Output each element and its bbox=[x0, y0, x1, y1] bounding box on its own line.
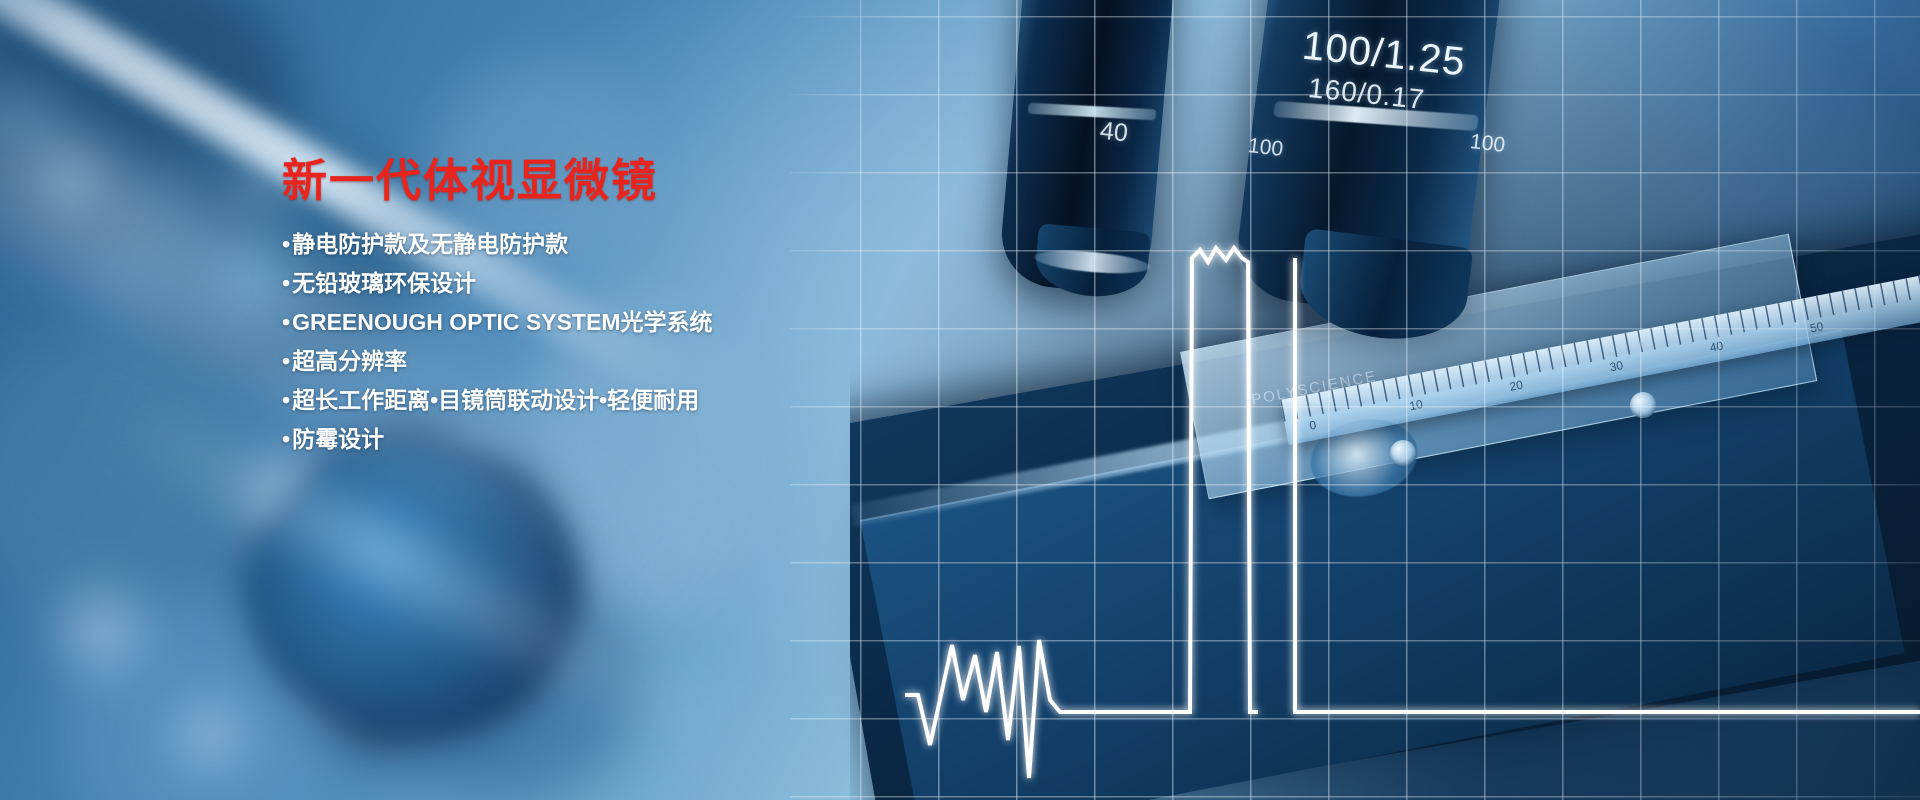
feature-list: •静电防护款及无静电防护款•无铅玻璃环保设计•GREENOUGH OPTIC S… bbox=[282, 233, 902, 451]
bullet-dot-icon: • bbox=[282, 348, 290, 374]
list-item-label: 静电防护款及无静电防护款 bbox=[292, 231, 568, 257]
list-item-label: 无铅玻璃环保设计 bbox=[292, 270, 476, 296]
bullet-dot-icon: • bbox=[282, 309, 290, 335]
page-title: 新一代体视显微镜 bbox=[282, 155, 902, 207]
list-item-label: GREENOUGH OPTIC SYSTEM光学系统 bbox=[292, 309, 712, 335]
list-item: •防霉设计 bbox=[282, 428, 902, 451]
list-item: •GREENOUGH OPTIC SYSTEM光学系统 bbox=[282, 311, 902, 334]
list-item-label: 超高分辨率 bbox=[292, 348, 407, 374]
hero-banner: POLYSCIENCE 0 10 20 30 40 50 100/1.25 16… bbox=[0, 0, 1920, 800]
bullet-dot-icon: • bbox=[282, 426, 290, 452]
list-item-label: 超长工作距离•目镜筒联动设计•轻便耐用 bbox=[292, 387, 699, 413]
list-item: •无铅玻璃环保设计 bbox=[282, 272, 902, 295]
list-item: •超高分辨率 bbox=[282, 350, 902, 373]
bullet-dot-icon: • bbox=[282, 231, 290, 257]
list-item-label: 防霉设计 bbox=[292, 426, 384, 452]
list-item: •超长工作距离•目镜筒联动设计•轻便耐用 bbox=[282, 389, 902, 412]
banner-copy: 新一代体视显微镜 •静电防护款及无静电防护款•无铅玻璃环保设计•GREENOUG… bbox=[282, 155, 902, 467]
list-item: •静电防护款及无静电防护款 bbox=[282, 233, 902, 256]
bullet-dot-icon: • bbox=[282, 387, 290, 413]
bullet-dot-icon: • bbox=[282, 270, 290, 296]
chart-grid-overlay bbox=[790, 0, 1920, 800]
